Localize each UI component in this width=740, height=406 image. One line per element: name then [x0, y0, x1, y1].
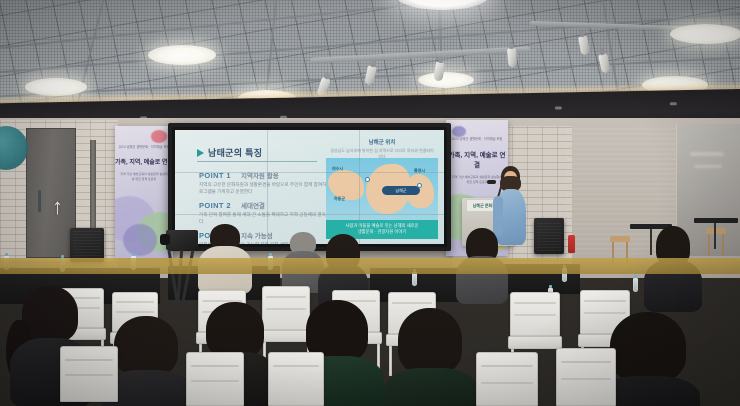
ceiling-light	[670, 24, 740, 44]
banner-eyebrow: 2024 남해군 생활문화 · 지역예술 포럼	[115, 144, 173, 149]
hair	[114, 316, 178, 376]
hair	[610, 312, 686, 382]
map-label: 하동군	[334, 196, 345, 202]
banner-title: 가족, 지역, 예술로 연결	[115, 157, 173, 166]
slide-title: 남태군의 특징	[197, 146, 262, 159]
glass-reflection	[690, 152, 724, 156]
map-marker	[366, 178, 369, 181]
high-table-leg	[650, 229, 652, 255]
door-handle[interactable]	[38, 190, 41, 212]
point-subtitle: 세대연결	[241, 200, 265, 210]
banner-eyebrow: 2024 남해군 생활문화 · 지역예술 포럼	[446, 136, 508, 141]
map-heading: 남해군 위치	[328, 138, 436, 146]
fire-extinguisher	[568, 235, 575, 253]
high-table-leg	[714, 223, 716, 249]
banner-subtitle: 지역 기반 예술교육과 생활문화 활성화를 위한 정책 토론회	[446, 175, 508, 185]
map-region-pill: 남해군	[382, 186, 420, 195]
map-illustration: 남해군 여수시 하동군 통영시	[326, 158, 438, 220]
map-marker	[418, 184, 421, 187]
camera-lens	[160, 234, 170, 245]
banner-subtitle: 지역 기반 예술교육과 생활문화 활성화를 위한 정책 토론회	[115, 172, 173, 182]
water-bottle	[412, 272, 417, 286]
conference-room-photo: ↑ 2024 남해군 생활문화 · 지역예술 포럼 가족, 지역, 예술로 연결…	[0, 0, 740, 406]
point-label: POINT 2	[199, 201, 231, 210]
torso	[384, 368, 478, 406]
floor-accent-strip	[0, 258, 740, 274]
presenter-arm	[493, 196, 503, 236]
banner-title: 가족, 지역, 예술로 연결	[446, 149, 508, 169]
hair	[206, 302, 264, 358]
exit-door[interactable]	[26, 128, 76, 258]
ceiling-light	[148, 45, 216, 65]
direction-arrow-icon: ↑	[52, 196, 63, 218]
track-spotlight	[507, 48, 517, 68]
triangle-right-icon	[197, 149, 204, 157]
video-camera	[166, 230, 198, 250]
slide-title-text: 남태군의 특징	[208, 146, 262, 159]
map-label: 통영시	[414, 168, 425, 174]
water-bottle	[633, 278, 638, 292]
ceiling-light	[25, 78, 87, 96]
map-heading-group: 남해군 위치 경상남도 남서부에 위치한 섬 지역으로 다리로 육지와 연결되어…	[328, 138, 436, 159]
ceiling-light	[418, 72, 474, 88]
high-table	[694, 218, 738, 223]
pa-speaker	[70, 228, 104, 262]
microphone	[487, 180, 496, 184]
map-region-label: 남해군	[395, 188, 406, 194]
title-underline	[197, 161, 317, 162]
pa-speaker	[534, 218, 564, 254]
glass-reflection	[694, 165, 722, 168]
hair	[398, 308, 462, 374]
